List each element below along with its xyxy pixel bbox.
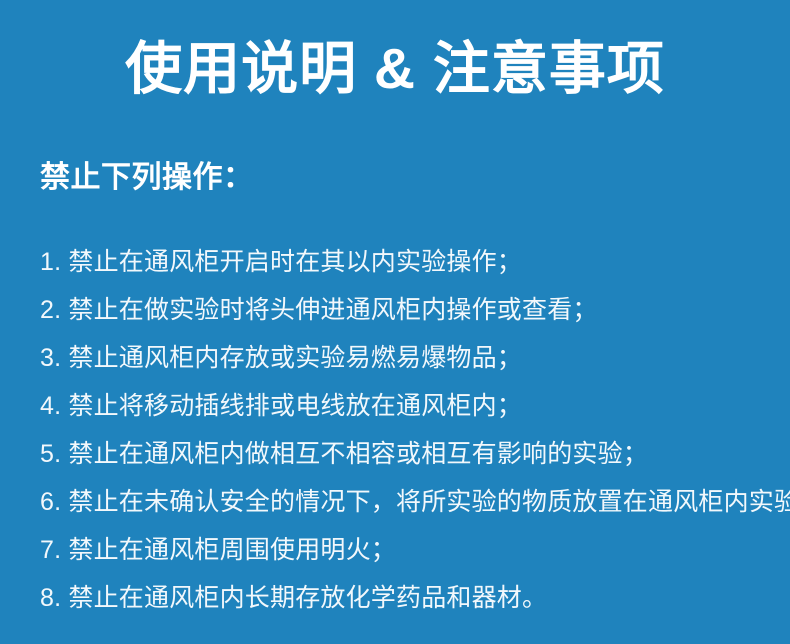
prohibited-rules-list: 1. 禁止在通风柜开启时在其以内实验操作； 2. 禁止在做实验时将头伸进通风柜内… xyxy=(40,238,776,622)
list-item: 7. 禁止在通风柜周围使用明火； xyxy=(40,526,776,574)
list-item: 1. 禁止在通风柜开启时在其以内实验操作； xyxy=(40,238,776,286)
list-item: 4. 禁止将移动插线排或电线放在通风柜内； xyxy=(40,382,776,430)
title-block: 使用说明 & 注意事项 xyxy=(0,36,790,103)
list-item: 2. 禁止在做实验时将头伸进通风柜内操作或查看； xyxy=(40,286,776,334)
list-item: 3. 禁止通风柜内存放或实验易燃易爆物品； xyxy=(40,334,776,382)
list-item: 5. 禁止在通风柜内做相互不相容或相互有影响的实验； xyxy=(40,430,776,478)
list-item: 8. 禁止在通风柜内长期存放化学药品和器材。 xyxy=(40,574,776,622)
prohibited-rules-block: 1. 禁止在通风柜开启时在其以内实验操作； 2. 禁止在做实验时将头伸进通风柜内… xyxy=(40,238,776,622)
list-item: 6. 禁止在未确认安全的情况下，将所实验的物质放置在通风柜内实验； xyxy=(40,478,776,526)
subtitle-block: 禁止下列操作： xyxy=(40,158,254,199)
page-title: 使用说明 & 注意事项 xyxy=(125,36,665,103)
instructions-poster: 使用说明 & 注意事项 禁止下列操作： 1. 禁止在通风柜开启时在其以内实验操作… xyxy=(0,0,790,644)
section-heading-prohibited: 禁止下列操作： xyxy=(40,158,254,199)
